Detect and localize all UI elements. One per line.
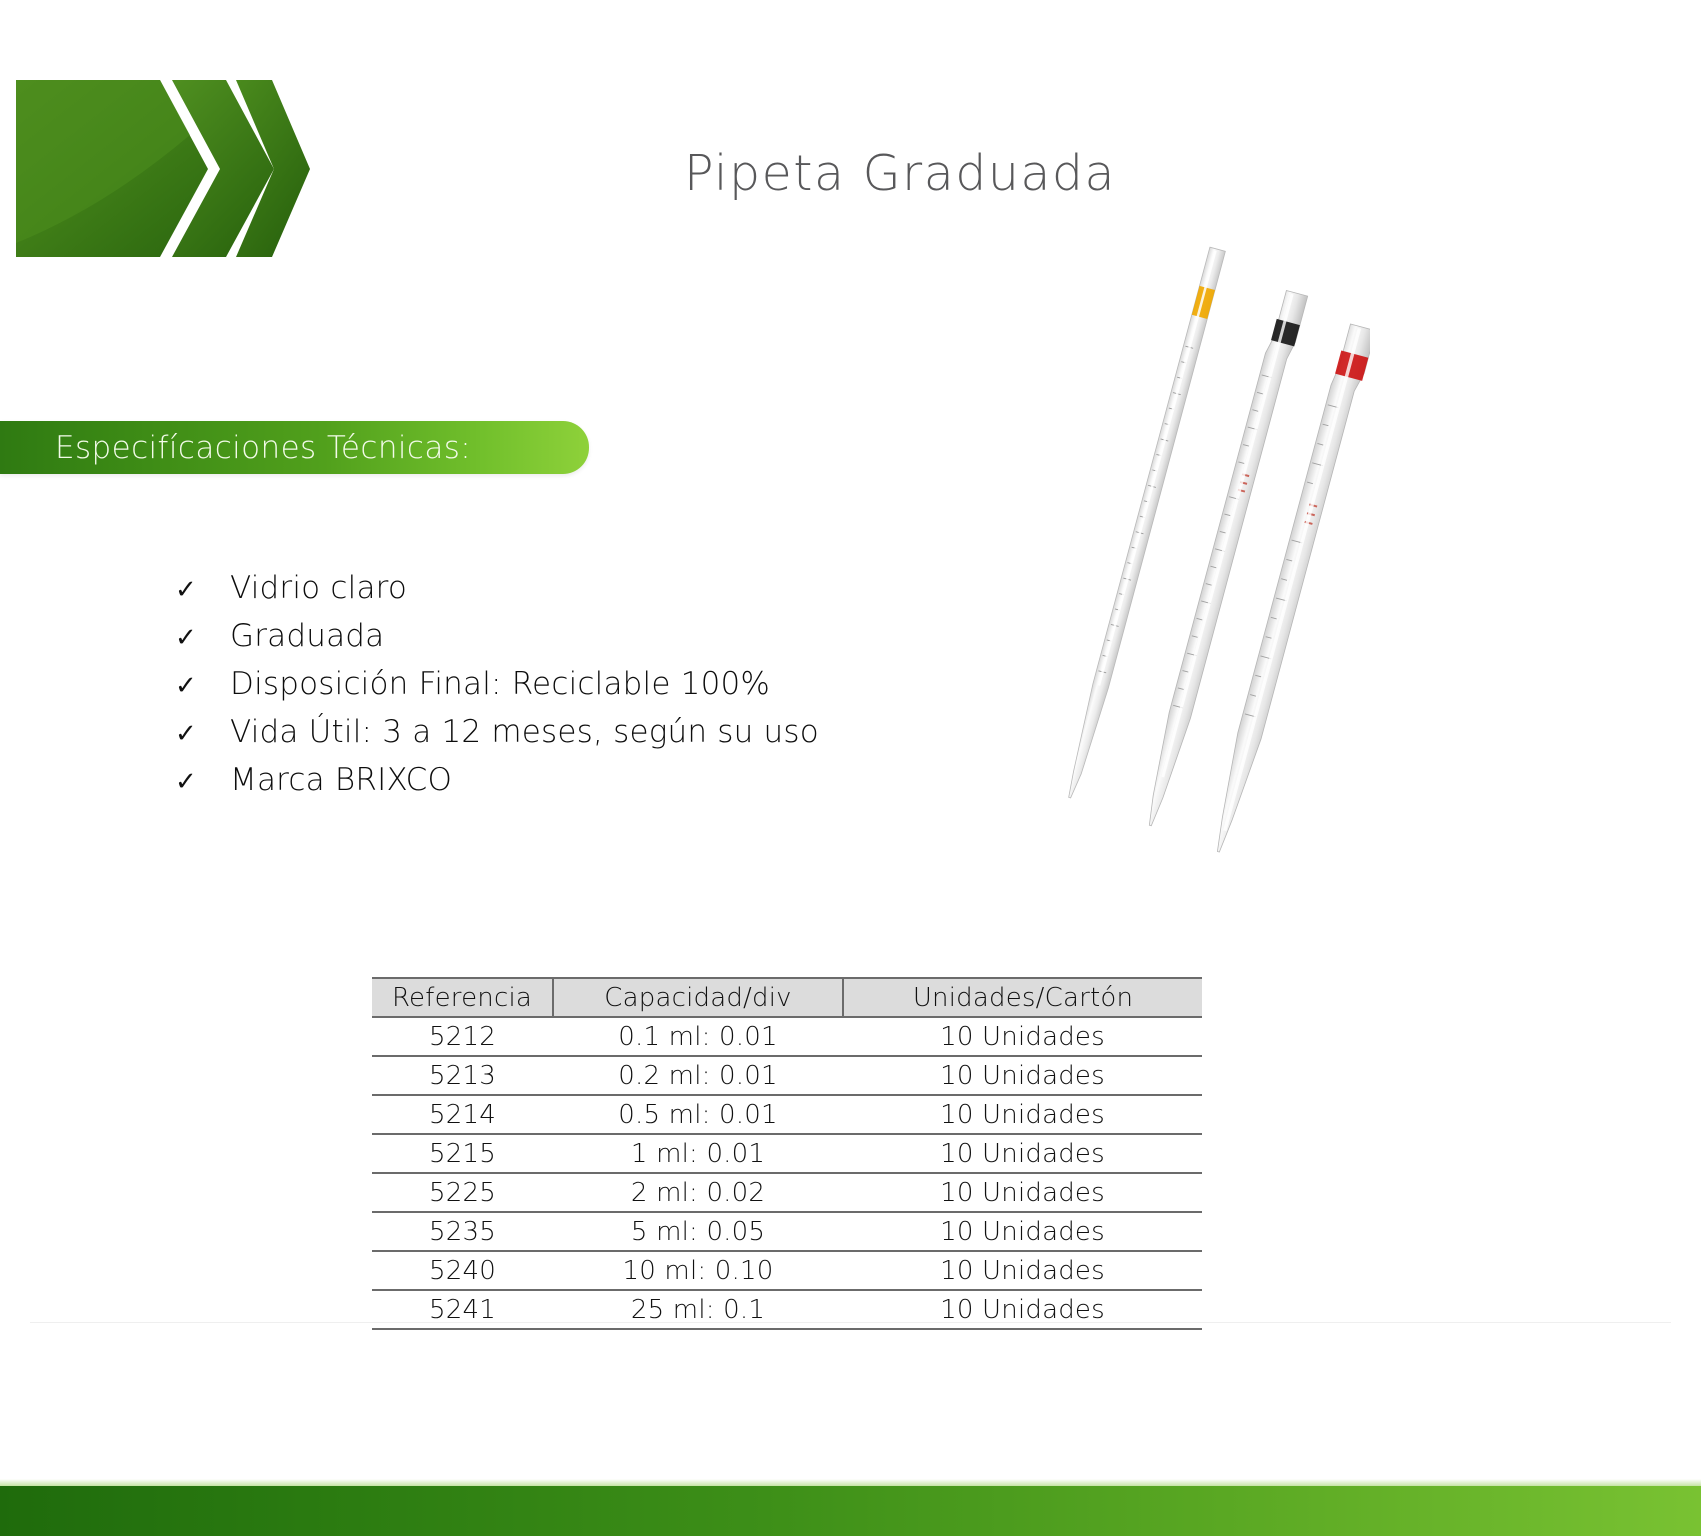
list-item: ✓ Graduada <box>175 618 1005 666</box>
table-row: 5235 5 ml: 0.05 10 Unidades <box>372 1212 1202 1251</box>
features-list: ✓ Vidrio claro ✓ Graduada ✓ Disposición … <box>175 570 1005 810</box>
cell-referencia: 5225 <box>372 1173 553 1212</box>
check-icon: ✓ <box>175 673 230 699</box>
cell-referencia: 5213 <box>372 1056 553 1095</box>
table-row: 5215 1 ml: 0.01 10 Unidades <box>372 1134 1202 1173</box>
list-item: ✓ Vida Útil: 3 a 12 meses, según su uso <box>175 714 1005 762</box>
specifications-banner: Especifícaciones Técnicas: <box>0 421 589 474</box>
cell-referencia: 5212 <box>372 1017 553 1056</box>
list-item-label: Graduada <box>230 618 384 654</box>
table-row: 5213 0.2 ml: 0.01 10 Unidades <box>372 1056 1202 1095</box>
cell-unidades: 10 Unidades <box>843 1017 1202 1056</box>
cell-capacidad: 1 ml: 0.01 <box>553 1134 843 1173</box>
column-header-referencia: Referencia <box>372 978 553 1017</box>
pipette-1 <box>1063 247 1225 800</box>
cell-unidades: 10 Unidades <box>843 1134 1202 1173</box>
footer-divider <box>30 1322 1671 1323</box>
check-icon: ✓ <box>175 769 230 795</box>
list-item: ✓ Vidrio claro <box>175 570 1005 618</box>
cell-capacidad: 25 ml: 0.1 <box>553 1290 843 1329</box>
page-title: Pipeta Graduada <box>500 145 1300 202</box>
column-header-unidades: Unidades/Cartón <box>843 978 1202 1017</box>
footer-bar <box>0 1486 1701 1536</box>
cell-capacidad: 10 ml: 0.10 <box>553 1251 843 1290</box>
list-item-label: Marca BRIXCO <box>230 762 452 798</box>
cell-capacidad: 0.1 ml: 0.01 <box>553 1017 843 1056</box>
cell-unidades: 10 Unidades <box>843 1290 1202 1329</box>
list-item-label: Vidrio claro <box>230 570 407 606</box>
column-header-capacidad: Capacidad/div <box>553 978 843 1017</box>
cell-referencia: 5235 <box>372 1212 553 1251</box>
table-row: 5240 10 ml: 0.10 10 Unidades <box>372 1251 1202 1290</box>
specifications-table-container: Referencia Capacidad/div Unidades/Cartón… <box>372 977 1198 1330</box>
cell-capacidad: 0.5 ml: 0.01 <box>553 1095 843 1134</box>
table-row: 5214 0.5 ml: 0.01 10 Unidades <box>372 1095 1202 1134</box>
specifications-table: Referencia Capacidad/div Unidades/Cartón… <box>372 977 1202 1330</box>
cell-capacidad: 5 ml: 0.05 <box>553 1212 843 1251</box>
check-icon: ✓ <box>175 721 230 747</box>
list-item: ✓ Disposición Final: Reciclable 100% <box>175 666 1005 714</box>
list-item-label: Disposición Final: Reciclable 100% <box>230 666 770 702</box>
cell-unidades: 10 Unidades <box>843 1095 1202 1134</box>
cell-referencia: 5215 <box>372 1134 553 1173</box>
list-item: ✓ Marca BRIXCO <box>175 762 1005 810</box>
check-icon: ✓ <box>175 625 230 651</box>
cell-unidades: 10 Unidades <box>843 1056 1202 1095</box>
list-item-label: Vida Útil: 3 a 12 meses, según su uso <box>230 714 819 750</box>
cell-referencia: 5241 <box>372 1290 553 1329</box>
pipette-2 <box>1140 289 1308 829</box>
cell-unidades: 10 Unidades <box>843 1212 1202 1251</box>
cell-referencia: 5214 <box>372 1095 553 1134</box>
brand-logo <box>10 57 310 279</box>
table-row: 5212 0.1 ml: 0.01 10 Unidades <box>372 1017 1202 1056</box>
cell-capacidad: 0.2 ml: 0.01 <box>553 1056 843 1095</box>
table-header-row: Referencia Capacidad/div Unidades/Cartón <box>372 978 1202 1017</box>
cell-unidades: 10 Unidades <box>843 1173 1202 1212</box>
cell-unidades: 10 Unidades <box>843 1251 1202 1290</box>
table-row: 5241 25 ml: 0.1 10 Unidades <box>372 1290 1202 1329</box>
check-icon: ✓ <box>175 577 230 603</box>
chevron-logo-icon <box>10 57 310 279</box>
cell-capacidad: 2 ml: 0.02 <box>553 1173 843 1212</box>
pipette-3 <box>1207 323 1370 856</box>
table-row: 5225 2 ml: 0.02 10 Unidades <box>372 1173 1202 1212</box>
specifications-banner-label: Especifícaciones Técnicas: <box>55 430 471 466</box>
cell-referencia: 5240 <box>372 1251 553 1290</box>
